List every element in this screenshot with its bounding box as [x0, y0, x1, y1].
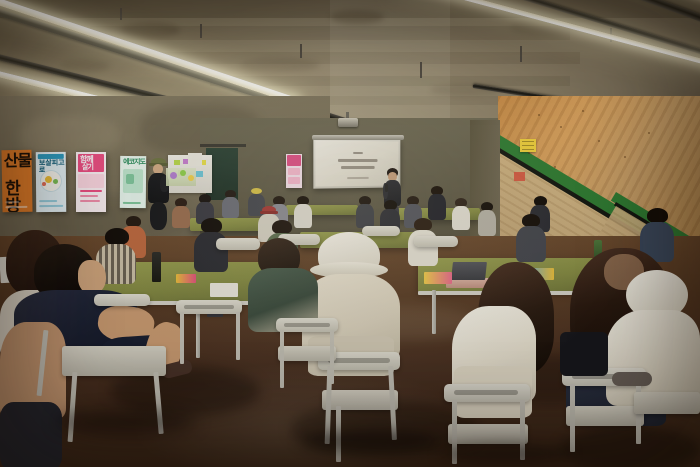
shoe: [612, 372, 652, 386]
red-notice-sign: [514, 172, 525, 181]
floor-shadow: [300, 430, 440, 452]
poster-green: 에코지도: [120, 156, 146, 208]
chair-back[interactable]: [94, 294, 150, 306]
flyer[interactable]: [424, 272, 452, 284]
audience-member: [452, 198, 470, 230]
poster-pink: 함께 살기: [76, 152, 106, 212]
poster-orange: 산물 한방: [1, 150, 32, 213]
chair-back[interactable]: [276, 318, 338, 332]
audience-member: [222, 190, 239, 218]
microphone[interactable]: [385, 184, 388, 192]
chair-seat[interactable]: [322, 390, 398, 410]
audience-member: [0, 322, 70, 467]
projector: [338, 118, 358, 127]
audience-member: [516, 214, 546, 262]
panel-dot: [180, 170, 186, 176]
sticky-note: [174, 160, 180, 165]
screen-roller: [312, 135, 404, 140]
floor-shadow: [56, 410, 196, 434]
chair-seat[interactable]: [278, 346, 336, 361]
poster-magenta: [286, 154, 302, 188]
panel-dot: [170, 172, 177, 179]
panel-dot: [188, 175, 194, 181]
audience-member: [356, 196, 374, 228]
audience-member: [172, 198, 190, 228]
chair-seat[interactable]: [634, 392, 700, 414]
chair-back[interactable]: [444, 384, 530, 402]
door-rail: [200, 144, 246, 147]
chair-back[interactable]: [176, 300, 242, 314]
chair-seat[interactable]: [448, 424, 528, 444]
audience-member: [428, 186, 446, 220]
notice-board: [188, 153, 202, 166]
photo-scene: 산물 한방 보살피고로 함께 살기 에코지도 현장: [0, 0, 700, 467]
poster-cyan: 보살피고로: [36, 152, 67, 212]
sticky-note: [196, 171, 203, 177]
audience-member: [478, 202, 496, 236]
yellow-notice-sign: [520, 139, 536, 152]
bag[interactable]: [560, 332, 608, 376]
chair[interactable]: [414, 236, 458, 247]
floor-shadow: [440, 444, 570, 464]
chair-seat[interactable]: [566, 406, 644, 426]
notebook[interactable]: [210, 283, 238, 297]
chair-seat[interactable]: [62, 346, 166, 376]
